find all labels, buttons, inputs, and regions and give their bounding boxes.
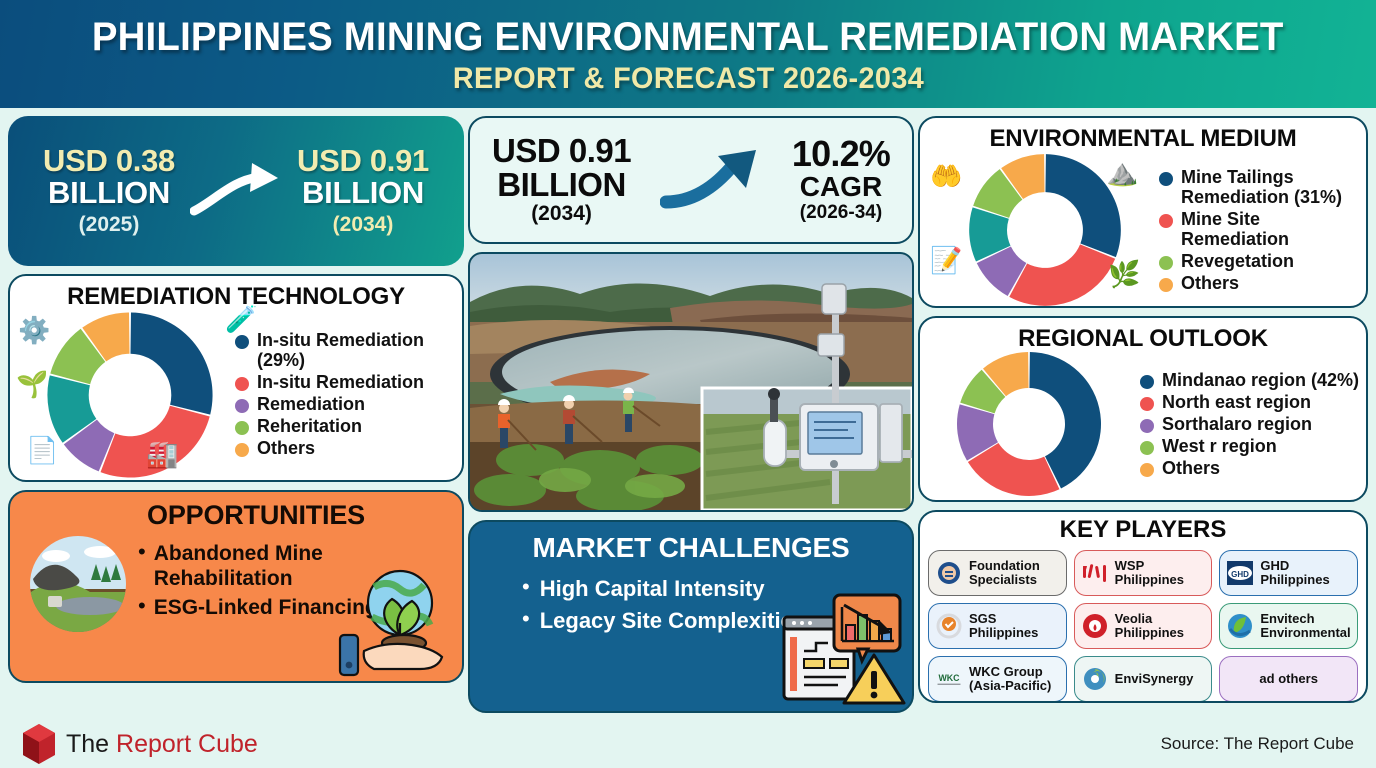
environmental-medium-donut: 🤲 📝 ⛰️ 🌿 xyxy=(926,151,1141,308)
hand-plant-icon: 🌱 xyxy=(16,371,48,397)
legend-swatch xyxy=(1140,419,1154,433)
hand-coin-icon: 🤲 xyxy=(930,163,962,189)
legend-item: Revegetation xyxy=(1159,251,1360,271)
smokestack-icon: 🏭 xyxy=(146,441,178,467)
declining-chart-warning-icon xyxy=(782,589,906,707)
legend-swatch xyxy=(235,421,249,435)
legend-swatch xyxy=(235,443,249,457)
legend-item: Others xyxy=(1140,458,1360,478)
forecast-value: USD 0.91 xyxy=(492,134,631,168)
mine-remediation-photo xyxy=(468,252,914,512)
brand-the: The xyxy=(66,730,116,758)
forecast-year: (2034) xyxy=(492,202,631,226)
legend-label: Reheritation xyxy=(257,416,362,436)
end-unit: BILLION xyxy=(282,177,444,210)
legend-item: Mine Tailings Remediation (31%) xyxy=(1159,167,1360,207)
page-subtitle: REPORT & FORECAST 2026-2034 xyxy=(452,62,923,96)
key-player-chip[interactable]: FoundationSpecialists xyxy=(928,550,1067,596)
tailings-mound-icon: ⛰️ xyxy=(1106,159,1138,185)
legend-item: In-situ Remediation (29%) xyxy=(235,330,456,370)
legend-swatch xyxy=(235,399,249,413)
legend-item: Reheritation xyxy=(235,416,456,436)
legend-swatch xyxy=(235,377,249,391)
donut-segment xyxy=(130,312,212,414)
legend-label: Others xyxy=(1162,458,1220,478)
donut-segment xyxy=(1009,244,1115,305)
opportunities-title: OPPORTUNITIES xyxy=(20,500,452,531)
legend-item: Remediation xyxy=(235,394,456,414)
regional-outlook-legend: Mindanao region (42%) North east region … xyxy=(1126,370,1360,481)
seedling-icon: 🌿 xyxy=(1108,261,1140,287)
start-year: (2025) xyxy=(28,213,190,237)
legend-label: Sorthalaro region xyxy=(1162,414,1312,434)
key-player-name: ad others xyxy=(1259,672,1318,686)
regional-outlook-donut xyxy=(926,349,1126,501)
legend-label: Mindanao region (42%) xyxy=(1162,370,1359,390)
legend-label: Revegetation xyxy=(1181,251,1294,271)
cagr-value-block: USD 0.91 BILLION (2034) xyxy=(492,134,631,226)
growth-arrow-icon xyxy=(660,146,764,215)
source-label: Source: The Report Cube xyxy=(1161,734,1354,754)
factory-soil-icon: ⚙️ xyxy=(18,317,50,343)
legend-swatch xyxy=(1140,397,1154,411)
key-player-name: WKC Group(Asia-Pacific) xyxy=(969,665,1051,694)
veolia-drop-icon xyxy=(1080,611,1110,641)
legend-label: Mine Tailings Remediation (31%) xyxy=(1181,167,1360,207)
brand-report-cube: Report Cube xyxy=(116,730,258,758)
left-column: USD 0.38 BILLION (2025) USD 0.91 BILLION… xyxy=(8,116,464,683)
legend-label: Mine Site Remediation xyxy=(1181,209,1360,249)
environmental-medium-title: ENVIRONMENTAL MEDIUM xyxy=(920,118,1366,153)
document-pencil-icon: 📝 xyxy=(930,247,962,273)
infographic-header: PHILIPPINES MINING ENVIRONMENTAL REMEDIA… xyxy=(0,0,1376,108)
legend-label: In-situ Remediation xyxy=(257,372,424,392)
right-column: ENVIRONMENTAL MEDIUM 🤲 📝 ⛰️ 🌿 Mine Taili… xyxy=(918,116,1368,703)
leaf-swirl-icon xyxy=(1225,611,1255,641)
cagr-label: CAGR xyxy=(792,172,890,201)
swirl-circle-icon xyxy=(1080,664,1110,694)
gear-face-icon xyxy=(934,558,964,588)
ghd-square-icon: GHD xyxy=(1225,558,1255,588)
environmental-medium-legend: Mine Tailings Remediation (31%) Mine Sit… xyxy=(1141,167,1360,296)
legend-swatch xyxy=(1159,256,1173,270)
key-player-chip[interactable]: WSPPhilippines xyxy=(1074,550,1213,596)
key-player-chip[interactable]: EnviSynergy xyxy=(1074,656,1213,702)
legend-item: West r region xyxy=(1140,436,1360,456)
red-cube-icon xyxy=(22,722,56,766)
legend-swatch xyxy=(1140,441,1154,455)
end-value: USD 0.91 xyxy=(282,145,444,177)
mine-landscape-icon xyxy=(28,534,128,634)
key-players-grid: FoundationSpecialistsWSPPhilippinesGHDGH… xyxy=(928,550,1358,702)
legend-label: Others xyxy=(257,438,315,458)
legend-swatch xyxy=(1159,172,1173,186)
legend-item: Mine Site Remediation xyxy=(1159,209,1360,249)
start-unit: BILLION xyxy=(28,177,190,210)
key-player-chip[interactable]: EnvitechEnvironmental xyxy=(1219,603,1358,649)
wkc-wordmark-icon: WKC xyxy=(934,664,964,694)
legend-swatch xyxy=(235,335,249,349)
key-player-name: WSPPhilippines xyxy=(1115,559,1184,588)
sgs-check-icon xyxy=(934,611,964,641)
middle-column: USD 0.91 BILLION (2034) 10.2% CAGR (2026… xyxy=(468,116,914,713)
market-value-end: USD 0.91 BILLION (2034) xyxy=(282,145,444,236)
key-player-chip[interactable]: ad others xyxy=(1219,656,1358,702)
brand-name: The Report Cube xyxy=(66,730,258,759)
remediation-technology-panel: REMEDIATION TECHNOLOGY ⚙️ 🌱 📄 🏭 🧪 In-sit… xyxy=(8,274,464,482)
hand-holding-earth-plant-icon xyxy=(334,565,452,677)
page-title: PHILIPPINES MINING ENVIRONMENTAL REMEDIA… xyxy=(92,16,1284,58)
infographic-board: USD 0.38 BILLION (2025) USD 0.91 BILLION… xyxy=(0,110,1376,720)
key-player-name: GHDPhilippines xyxy=(1260,559,1329,588)
key-player-name: EnvitechEnvironmental xyxy=(1260,612,1350,641)
document-search-icon: 📄 xyxy=(26,437,58,463)
regional-outlook-title: REGIONAL OUTLOOK xyxy=(920,318,1366,353)
legend-item: Others xyxy=(1159,273,1360,293)
market-value-card: USD 0.38 BILLION (2025) USD 0.91 BILLION… xyxy=(8,116,464,266)
bullet-icon: • xyxy=(522,576,530,598)
key-player-chip[interactable]: VeoliaPhilippines xyxy=(1074,603,1213,649)
bullet-icon: • xyxy=(522,608,530,630)
legend-swatch xyxy=(1140,463,1154,477)
key-player-name: SGSPhilippines xyxy=(969,612,1038,641)
cagr-value-block-right: 10.2% CAGR (2026-34) xyxy=(792,136,890,224)
end-year: (2034) xyxy=(282,213,444,237)
brand: The Report Cube xyxy=(22,722,258,766)
infographic-footer: The Report Cube Source: The Report Cube xyxy=(0,720,1376,768)
start-value: USD 0.38 xyxy=(28,145,190,177)
legend-label: Remediation xyxy=(257,394,365,414)
market-challenges-panel: MARKET CHALLENGES • High Capital Intensi… xyxy=(468,520,914,713)
cagr-card: USD 0.91 BILLION (2034) 10.2% CAGR (2026… xyxy=(468,116,914,244)
key-player-name: EnviSynergy xyxy=(1115,672,1194,686)
remediation-technology-legend: 🧪 In-situ Remediation (29%) In-situ Reme… xyxy=(231,330,456,461)
legend-label: Others xyxy=(1181,273,1239,293)
legend-label: West r region xyxy=(1162,436,1277,456)
key-player-chip[interactable]: SGSPhilippines xyxy=(928,603,1067,649)
legend-item: Others xyxy=(235,438,456,458)
legend-item: North east region xyxy=(1140,392,1360,412)
opportunities-panel: OPPORTUNITIES • Abandoned Mine Rehabilit… xyxy=(8,490,464,683)
cagr-percent: 10.2% xyxy=(792,136,890,172)
challenge-text: High Capital Intensity xyxy=(540,576,765,602)
challenge-text: Legacy Site Complexities xyxy=(540,608,805,634)
environmental-medium-panel: ENVIRONMENTAL MEDIUM 🤲 📝 ⛰️ 🌿 Mine Taili… xyxy=(918,116,1368,308)
key-player-chip[interactable]: WKCWKC Group(Asia-Pacific) xyxy=(928,656,1067,702)
bullet-icon: • xyxy=(138,541,146,563)
key-player-name: FoundationSpecialists xyxy=(969,559,1040,588)
regional-outlook-panel: REGIONAL OUTLOOK Mindanao region (42%) N… xyxy=(918,316,1368,502)
key-players-title: KEY PLAYERS xyxy=(928,516,1358,544)
legend-swatch xyxy=(1140,375,1154,389)
svg-text:GHD: GHD xyxy=(1231,570,1249,579)
bullet-icon: • xyxy=(138,595,146,617)
curved-arrow-right-icon xyxy=(190,161,282,221)
legend-label: In-situ Remediation (29%) xyxy=(257,330,456,370)
cagr-range: (2026-34) xyxy=(792,202,890,224)
legend-swatch xyxy=(1159,214,1173,228)
legend-swatch xyxy=(1159,278,1173,292)
forecast-unit: BILLION xyxy=(492,168,631,202)
market-value-start: USD 0.38 BILLION (2025) xyxy=(28,145,190,236)
key-players-panel: KEY PLAYERS FoundationSpecialistsWSPPhil… xyxy=(918,510,1368,703)
lab-pipette-water-icon: 🧪 xyxy=(225,306,257,332)
remediation-technology-donut: ⚙️ 🌱 📄 🏭 xyxy=(16,309,231,481)
key-player-name: VeoliaPhilippines xyxy=(1115,612,1184,641)
legend-item: In-situ Remediation xyxy=(235,372,456,392)
svg-text:WKC: WKC xyxy=(938,673,960,683)
legend-label: North east region xyxy=(1162,392,1311,412)
wsp-wordmark-icon xyxy=(1080,558,1110,588)
key-player-chip[interactable]: GHDGHDPhilippines xyxy=(1219,550,1358,596)
legend-item: Mindanao region (42%) xyxy=(1140,370,1360,390)
legend-item: Sorthalaro region xyxy=(1140,414,1360,434)
market-challenges-title: MARKET CHALLENGES xyxy=(482,532,900,564)
